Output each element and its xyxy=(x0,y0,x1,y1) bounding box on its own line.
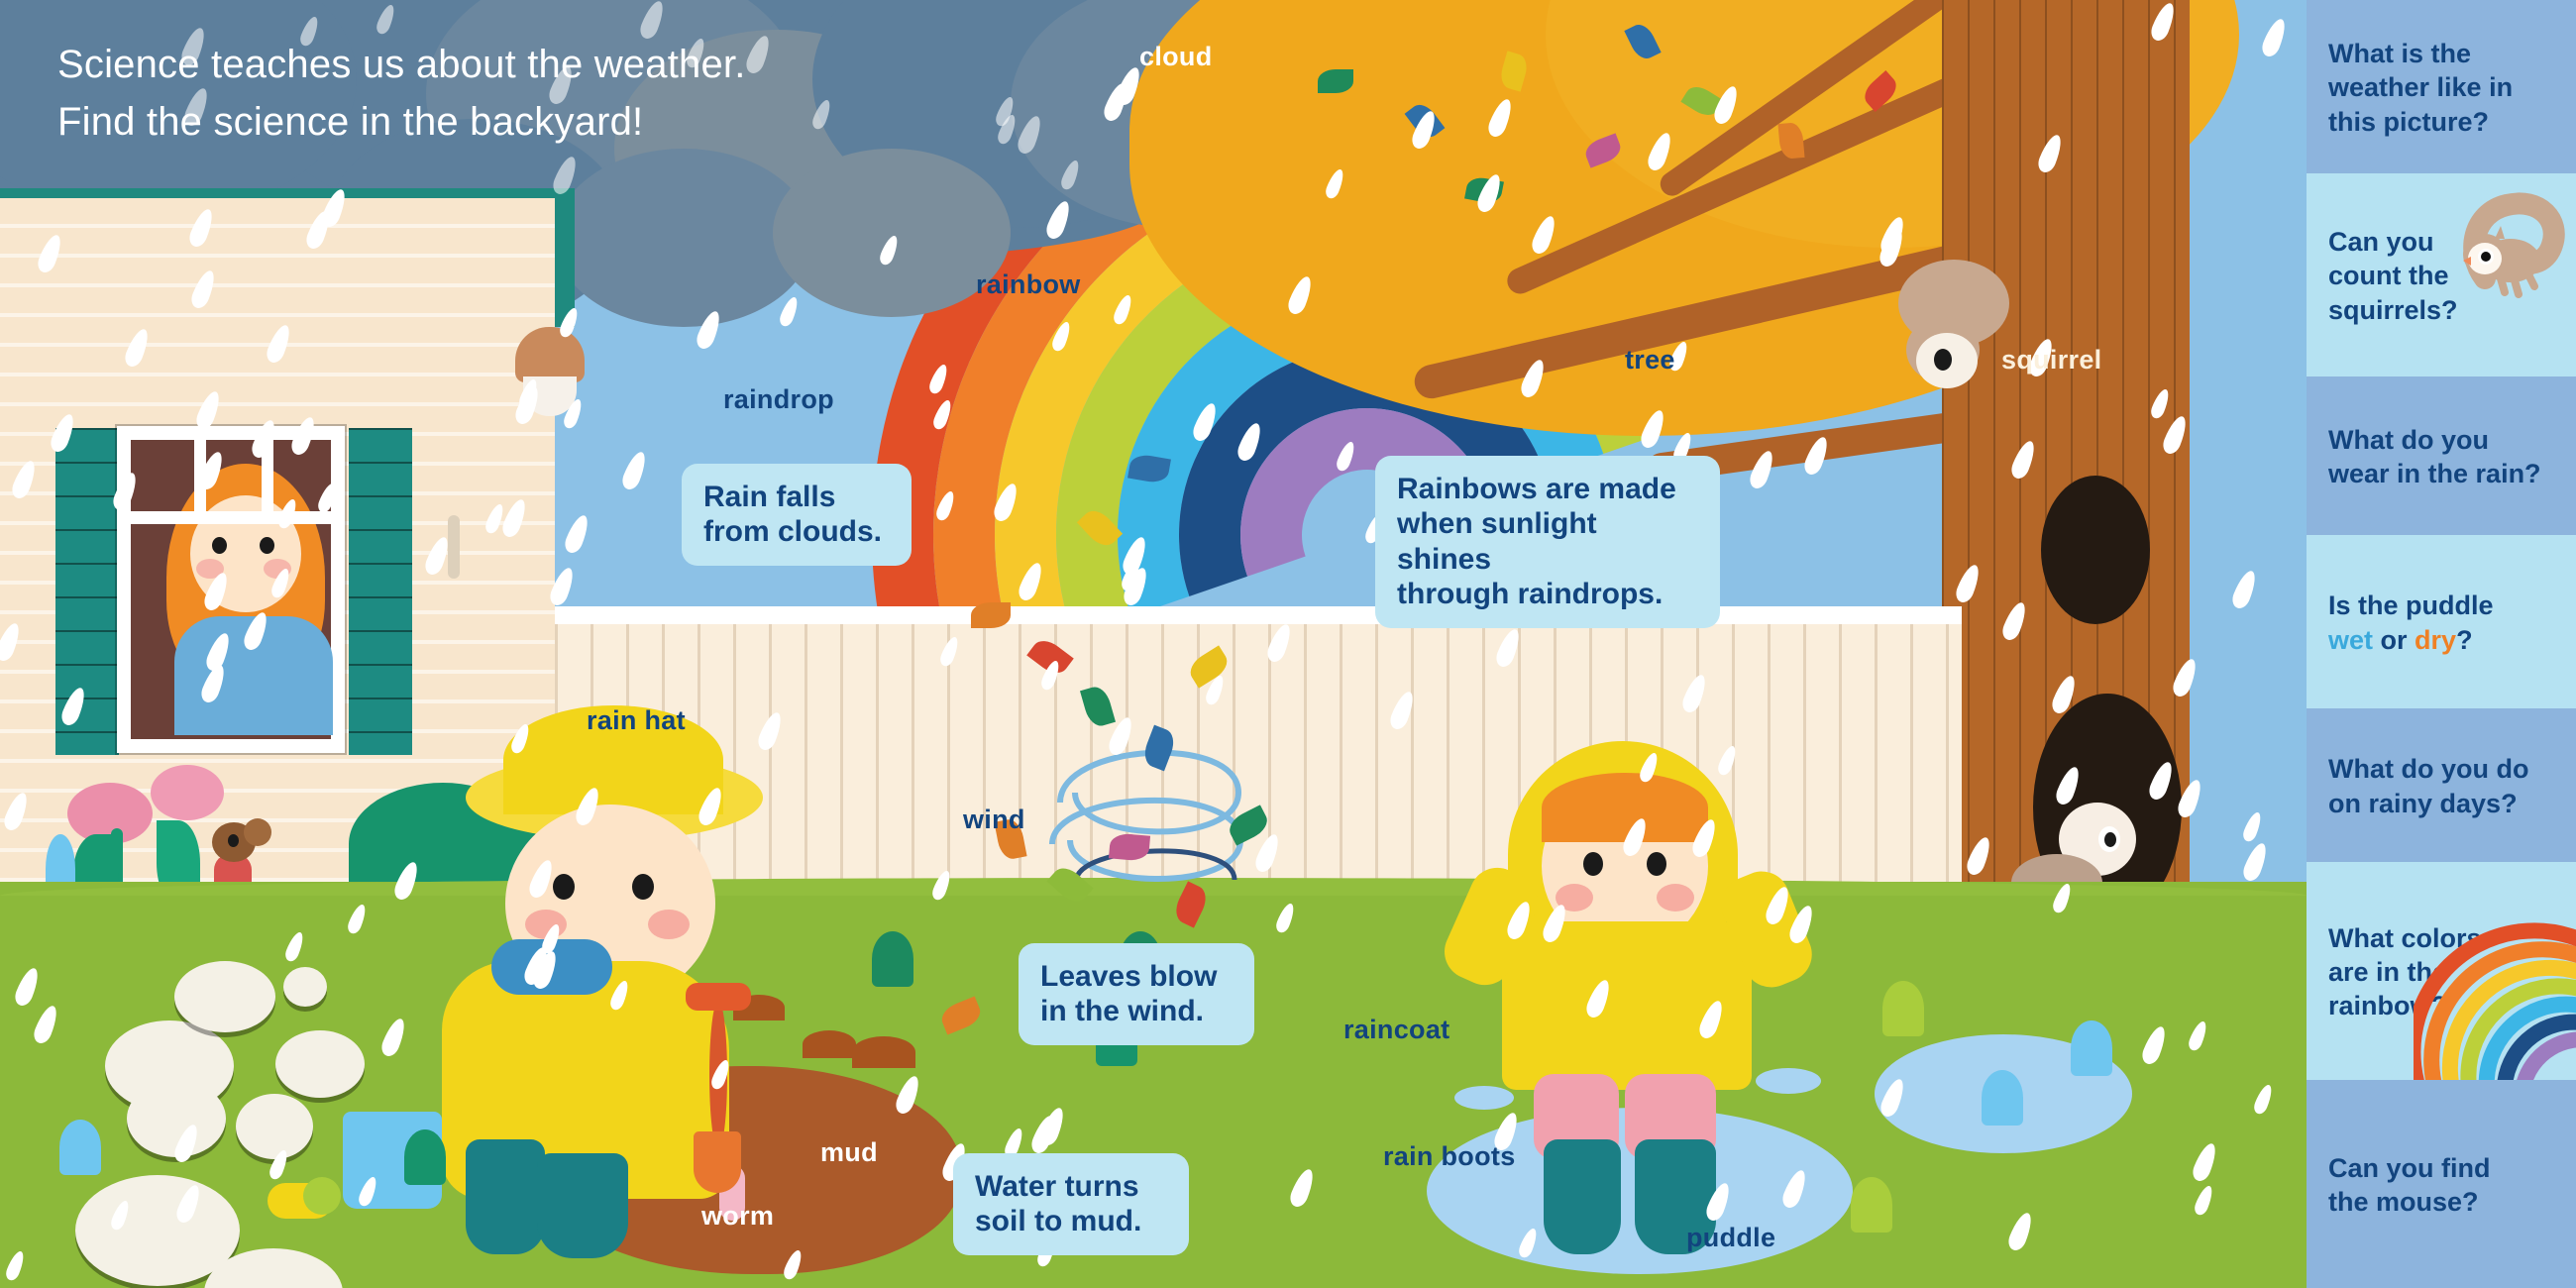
cloud-blob xyxy=(773,149,1011,317)
leaf xyxy=(971,602,1011,628)
grass-tuft xyxy=(1882,981,1924,1036)
splash-right xyxy=(1756,1068,1821,1094)
soil-mound-2 xyxy=(852,1036,915,1068)
question-find-mouse-text: Can you find the mouse? xyxy=(2328,1151,2491,1219)
word-wet: wet xyxy=(2328,625,2373,655)
stepping-stone xyxy=(236,1094,313,1159)
kid2-eye-left xyxy=(1583,852,1603,876)
fact-mud: Water turns soil to mud. xyxy=(953,1153,1189,1255)
illustrated-spread: Science teaches us about the weather. Fi… xyxy=(0,0,2576,1288)
question-find-mouse[interactable]: Can you find the mouse? xyxy=(2307,1080,2576,1288)
grass-tuft xyxy=(872,931,913,987)
window-shutter-right xyxy=(349,428,412,755)
mouse-ear xyxy=(244,818,271,846)
label-squirrel: squirrel xyxy=(2001,345,2101,376)
shovel-blade xyxy=(694,1131,741,1193)
label-tree: tree xyxy=(1625,345,1675,376)
kid2-eye-right xyxy=(1647,852,1666,876)
question-wear-rain-text: What do you wear in the rain? xyxy=(2328,423,2541,490)
label-mud: mud xyxy=(820,1137,878,1168)
label-wind: wind xyxy=(963,805,1025,835)
canopy-leaf xyxy=(1318,69,1353,93)
splash-left xyxy=(1454,1086,1514,1110)
kid-cheek-right xyxy=(648,910,690,939)
thermometer xyxy=(448,515,460,579)
kid2-hair xyxy=(1542,773,1708,842)
house-window xyxy=(117,426,345,753)
question-text-part: or xyxy=(2373,625,2415,655)
question-weather[interactable]: What is the weather like in this picture… xyxy=(2307,0,2576,173)
label-raincoat: raincoat xyxy=(1343,1015,1449,1045)
stepping-stone xyxy=(283,967,327,1007)
question-rainbow-colors[interactable]: What colors are in the rainbow? xyxy=(2307,862,2576,1080)
soil-mound-1 xyxy=(803,1030,856,1058)
rainbow-icon xyxy=(2414,912,2576,1080)
grass-tuft xyxy=(1851,1177,1892,1233)
squirrel-branch-eye xyxy=(1934,349,1952,371)
woman-eye-left xyxy=(212,537,227,554)
caterpillar-head xyxy=(303,1177,341,1215)
label-rain-hat: rain hat xyxy=(587,705,686,736)
squirrel-hollow-pupil xyxy=(2104,832,2116,847)
label-worm: worm xyxy=(701,1201,774,1232)
grass-tuft xyxy=(404,1129,446,1185)
kid2-cheek-right xyxy=(1657,884,1694,912)
fact-rainbow: Rainbows are made when sunlight shines t… xyxy=(1375,456,1720,628)
fact-leaves: Leaves blow in the wind. xyxy=(1019,943,1254,1045)
question-weather-text: What is the weather like in this picture… xyxy=(2328,37,2513,138)
stepping-stone xyxy=(174,961,275,1032)
woman-eye-right xyxy=(260,537,274,554)
question-rainy-days[interactable]: What do you do on rainy days? xyxy=(2307,708,2576,862)
stepping-stone xyxy=(275,1030,365,1098)
kid-boot-right xyxy=(537,1153,628,1258)
question-text-part: ? xyxy=(2456,625,2473,655)
page-title: Science teaches us about the weather. Fi… xyxy=(57,36,746,151)
question-squirrels-text: Can you count the squirrels? xyxy=(2328,225,2458,326)
label-puddle: puddle xyxy=(1686,1223,1775,1253)
tree-hollow-web xyxy=(2041,476,2150,624)
label-rainbow: rainbow xyxy=(976,269,1081,300)
kid-eye-right xyxy=(632,874,654,900)
shovel-grip xyxy=(686,983,751,1011)
question-wear-rain[interactable]: What do you wear in the rain? xyxy=(2307,376,2576,535)
kid-boot-left xyxy=(466,1139,545,1254)
grass-tuft xyxy=(2071,1020,2112,1076)
question-squirrels[interactable]: Can you count the squirrels? xyxy=(2307,173,2576,376)
backyard-scene: Science teaches us about the weather. Fi… xyxy=(0,0,2307,1288)
label-cloud: cloud xyxy=(1139,42,1213,72)
window-mullion-horizontal xyxy=(131,511,331,524)
kid-eye-left xyxy=(553,874,575,900)
question-puddle[interactable]: Is the puddle wet or dry? xyxy=(2307,535,2576,708)
flower-pink-2 xyxy=(151,765,224,820)
word-dry: dry xyxy=(2415,625,2456,655)
label-rain-boots: rain boots xyxy=(1383,1141,1516,1172)
question-rainy-days-text: What do you do on rainy days? xyxy=(2328,752,2528,819)
grass-tuft xyxy=(59,1120,101,1175)
mouse-eye xyxy=(228,834,239,847)
squirrel-icon xyxy=(2445,183,2572,302)
label-raindrop: raindrop xyxy=(723,384,834,415)
fence-top-rail xyxy=(555,606,1962,624)
question-sidebar: What is the weather like in this picture… xyxy=(2307,0,2576,1288)
question-puddle-text: Is the puddle wet or dry? xyxy=(2328,589,2494,656)
fact-rain: Rain falls from clouds. xyxy=(682,464,912,566)
kid2-boot-left xyxy=(1544,1139,1621,1254)
grass-tuft xyxy=(1982,1070,2023,1126)
